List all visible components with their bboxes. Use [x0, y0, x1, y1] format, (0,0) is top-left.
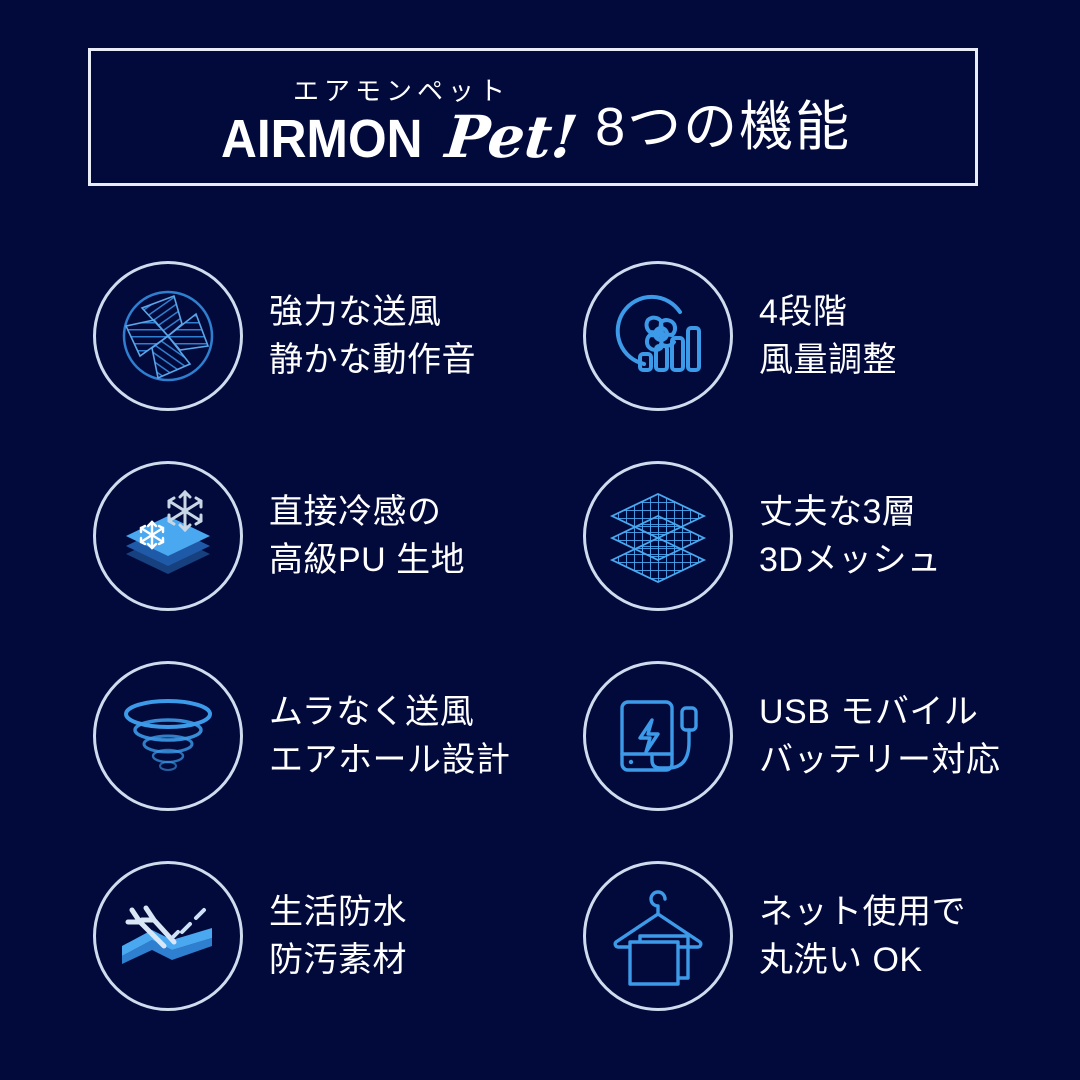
feature-line-1: ネット使用で: [759, 893, 966, 931]
feature-label: 4段階 風量調整: [759, 288, 897, 385]
header-frame: エアモンペット AIRMON Pet! 8つの機能: [88, 48, 978, 186]
feature-label: USB モバイル バッテリー対応: [759, 688, 1001, 785]
feature-line-2: 静かな動作音: [269, 336, 476, 384]
feature-label: ネット使用で 丸洗い OK: [759, 888, 966, 985]
feature-line-2: バッテリー対応: [759, 736, 1001, 784]
feature-line-2: 丸洗い OK: [759, 936, 966, 984]
brand-name-airmon: AIRMON: [221, 112, 422, 166]
feature-line-2: 風量調整: [759, 336, 897, 384]
feature-line-1: 生活防水: [269, 893, 407, 931]
header-content: エアモンペット AIRMON Pet! 8つの機能: [91, 51, 981, 189]
feature-item: 強力な送風 静かな動作音: [93, 236, 583, 436]
brand-lockup: エアモンペット AIRMON Pet!: [221, 78, 577, 166]
fan-speed-bars-icon: [583, 261, 733, 411]
feature-label: 生活防水 防汚素材: [269, 888, 407, 985]
feature-label: 丈夫な3層 3Dメッシュ: [759, 488, 941, 585]
header-tagline: 8つの機能: [595, 100, 851, 154]
feature-item: USB モバイル バッテリー対応: [583, 636, 1073, 836]
feature-label: 強力な送風 静かな動作音: [269, 288, 476, 385]
brand-suffix-pet: Pet!: [443, 108, 580, 166]
cooling-fabric-layers-icon: [93, 461, 243, 611]
water-repellent-fabric-icon: [93, 861, 243, 1011]
feature-grid: 強力な送風 静かな動作音 4段階: [0, 236, 1080, 1036]
feature-item: 丈夫な3層 3Dメッシュ: [583, 436, 1073, 636]
feature-item: 直接冷感の 高級PU 生地: [93, 436, 583, 636]
feature-line-2: エアホール設計: [269, 736, 511, 784]
feature-line-1: ムラなく送風: [269, 693, 474, 731]
feature-line-2: 防汚素材: [269, 936, 407, 984]
three-layer-mesh-icon: [583, 461, 733, 611]
feature-line-1: 直接冷感の: [269, 493, 442, 531]
feature-item: 4段階 風量調整: [583, 236, 1073, 436]
feature-line-1: USB モバイル: [759, 693, 978, 731]
feature-line-2: 3Dメッシュ: [759, 536, 941, 584]
feature-label: ムラなく送風 エアホール設計: [269, 688, 511, 785]
brand-wordmark: AIRMON Pet!: [221, 108, 577, 166]
hanger-garment-icon: [583, 861, 733, 1011]
feature-item: 生活防水 防汚素材: [93, 836, 583, 1036]
feature-line-2: 高級PU 生地: [269, 536, 465, 584]
air-vortex-icon: [93, 661, 243, 811]
feature-line-1: 強力な送風: [269, 293, 442, 331]
feature-item: ムラなく送風 エアホール設計: [93, 636, 583, 836]
fan-blades-icon: [93, 261, 243, 411]
usb-power-bank-icon: [583, 661, 733, 811]
feature-line-1: 丈夫な3層: [759, 493, 916, 531]
feature-label: 直接冷感の 高級PU 生地: [269, 488, 465, 585]
feature-item: ネット使用で 丸洗い OK: [583, 836, 1073, 1036]
brand-kana-label: エアモンペット: [288, 78, 510, 104]
feature-line-1: 4段階: [759, 293, 847, 331]
